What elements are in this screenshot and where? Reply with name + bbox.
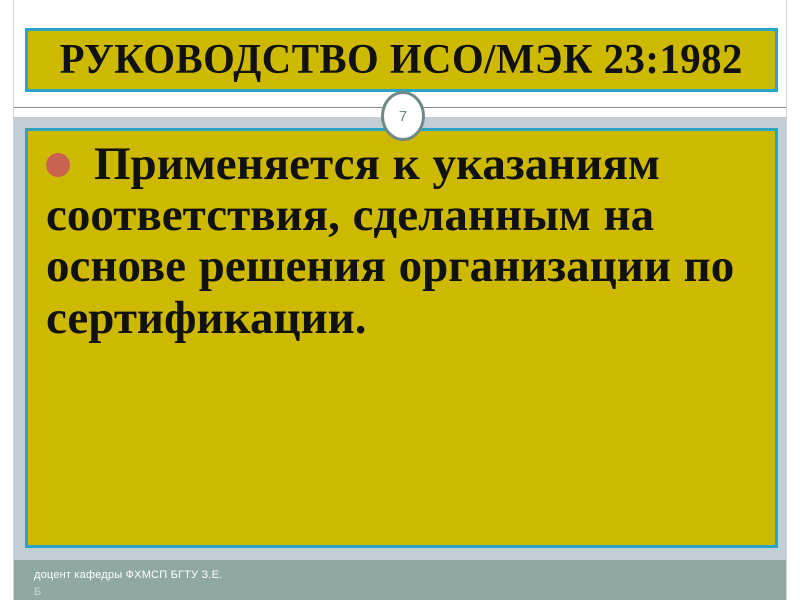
- page-edge-left-rule: [13, 0, 14, 600]
- slide-canvas: РУКОВОДСТВО ИСО/МЭК 23:1982 7 Применяетс…: [0, 0, 800, 600]
- page-number-badge: 7: [381, 91, 425, 141]
- body-paragraph: Применяется к указаниям соответствия, сд…: [46, 139, 765, 344]
- page-edge-right-rule: [786, 0, 787, 600]
- slide-title-box: РУКОВОДСТВО ИСО/МЭК 23:1982: [25, 28, 778, 92]
- footer-attribution-line-1: доцент кафедры ФХМСП БГТУ З.Е.: [34, 569, 222, 581]
- footer-attribution-line-2: Б: [34, 586, 41, 598]
- slide-content-box: Применяется к указаниям соответствия, сд…: [25, 128, 778, 548]
- bullet-list-item: Применяется к указаниям соответствия, сд…: [28, 139, 775, 344]
- page-number-value: 7: [399, 109, 407, 124]
- footer-bar: доцент кафедры ФХМСП БГТУ З.Е. Б: [0, 560, 800, 600]
- page-title: РУКОВОДСТВО ИСО/МЭК 23:1982: [60, 39, 743, 81]
